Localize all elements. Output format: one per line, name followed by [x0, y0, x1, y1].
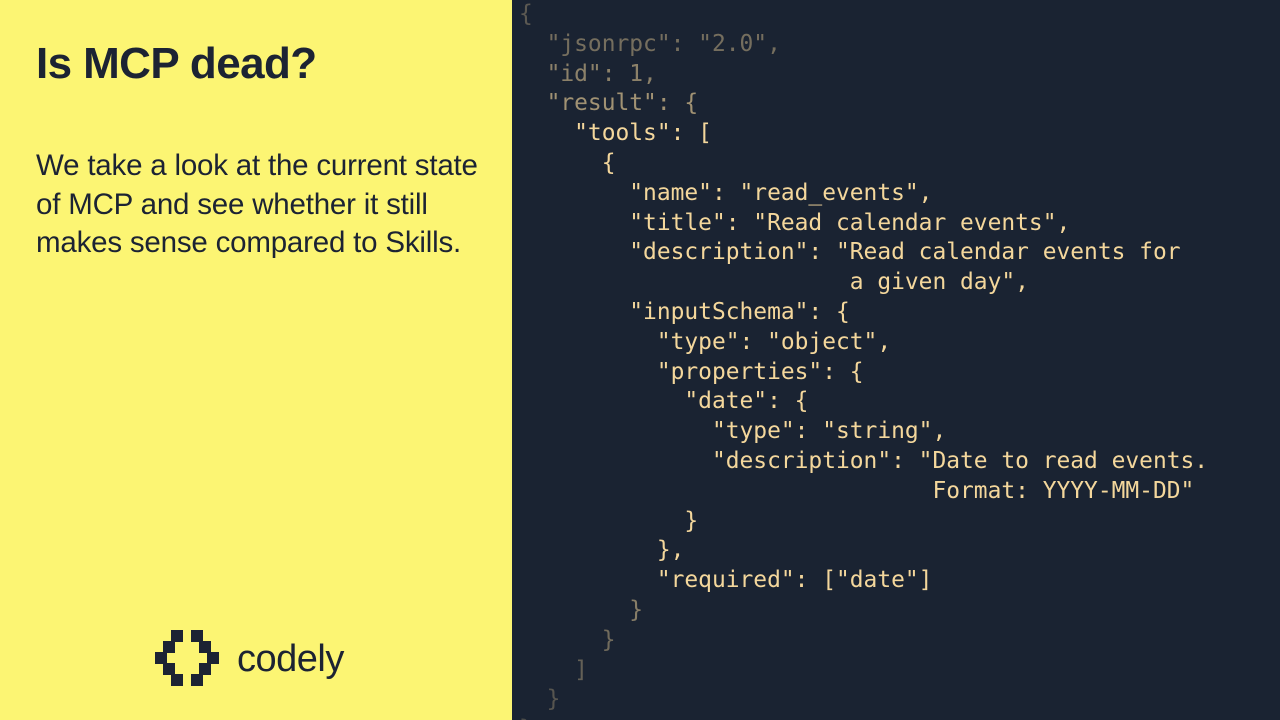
code-line: {	[519, 149, 1208, 179]
codely-bracket-dots-icon	[155, 630, 219, 686]
code-line: "name": "read_events",	[519, 179, 1208, 209]
code-line: "result": {	[519, 89, 1208, 119]
left-content-panel: Is MCP dead? We take a look at the curre…	[0, 0, 512, 720]
page-title: Is MCP dead?	[36, 38, 476, 90]
brand-wordmark: codely	[237, 640, 344, 678]
code-line: "title": "Read calendar events",	[519, 209, 1208, 239]
code-preview-panel: { "jsonrpc": "2.0", "id": 1, "result": {…	[508, 0, 1280, 720]
code-line: "id": 1,	[519, 60, 1208, 90]
code-line: "tools": [	[519, 119, 1208, 149]
code-line: "type": "object",	[519, 328, 1208, 358]
slide-root: Is MCP dead? We take a look at the curre…	[0, 0, 1280, 720]
code-line: Format: YYYY-MM-DD"	[519, 477, 1208, 507]
json-code-block: { "jsonrpc": "2.0", "id": 1, "result": {…	[519, 0, 1208, 720]
code-line: {	[519, 0, 1208, 30]
code-line: }	[519, 596, 1208, 626]
brand-logo: codely	[155, 628, 344, 688]
code-line: "description": "Date to read events.	[519, 447, 1208, 477]
code-line: "type": "string",	[519, 417, 1208, 447]
code-line: "date": {	[519, 387, 1208, 417]
page-subtitle: We take a look at the current state of M…	[36, 147, 486, 263]
code-line: }	[519, 685, 1208, 715]
code-line: },	[519, 536, 1208, 566]
panel-divider-strip	[508, 0, 512, 720]
code-line: "properties": {	[519, 358, 1208, 388]
code-line: ]	[519, 656, 1208, 686]
code-line: }	[519, 715, 1208, 720]
code-line: }	[519, 507, 1208, 537]
code-line: }	[519, 626, 1208, 656]
code-line: "required": ["date"]	[519, 566, 1208, 596]
code-line: "description": "Read calendar events for	[519, 238, 1208, 268]
code-line: "inputSchema": {	[519, 298, 1208, 328]
code-line: a given day",	[519, 268, 1208, 298]
code-line: "jsonrpc": "2.0",	[519, 30, 1208, 60]
